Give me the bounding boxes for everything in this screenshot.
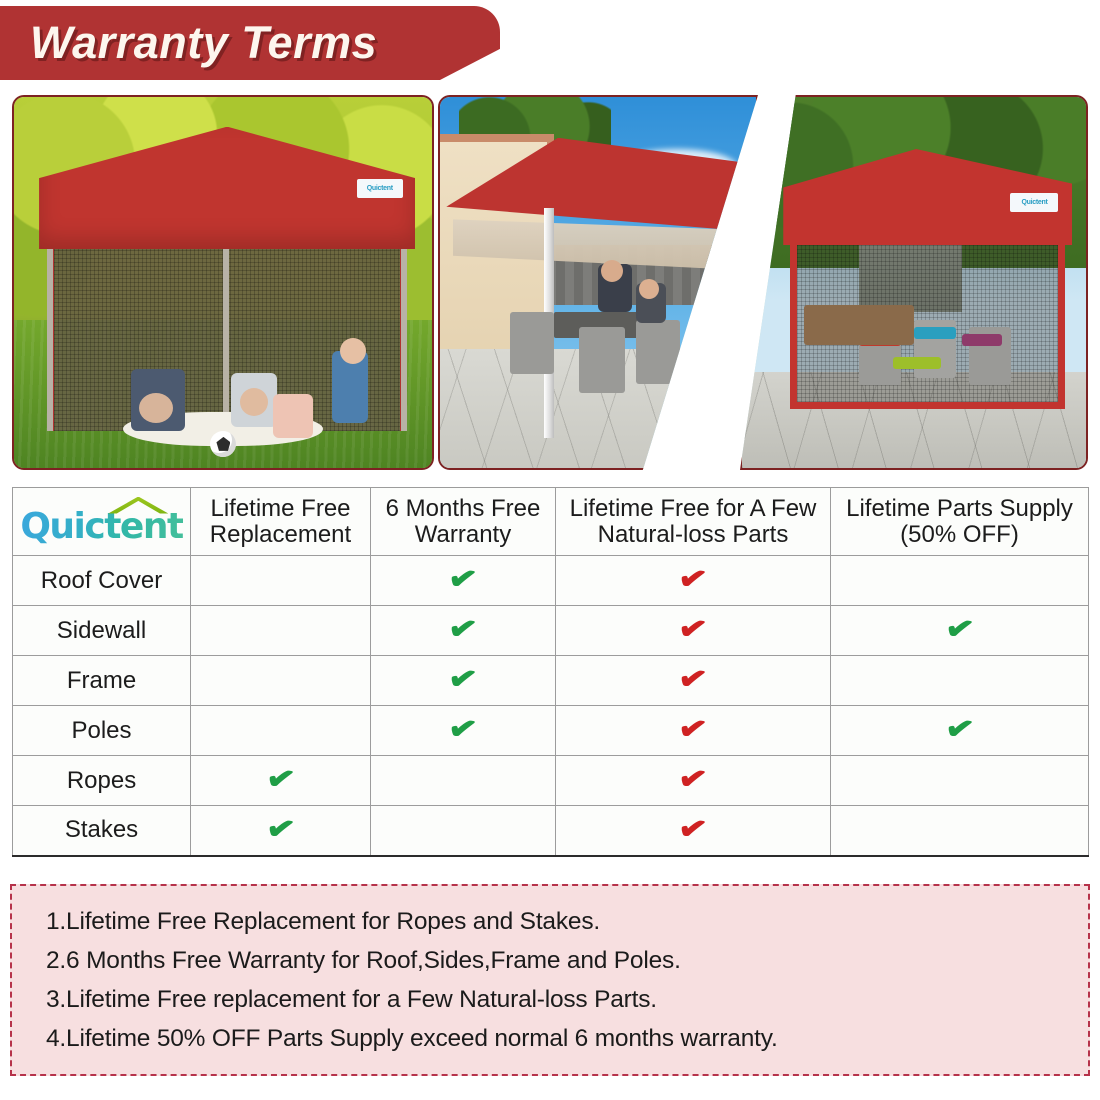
table-row: Sidewall✔✔✔ (13, 606, 1089, 656)
cell-check-red: ✔ (556, 706, 831, 756)
warranty-table: Quictent Lifetime Free Replacement 6 Mon… (12, 487, 1089, 857)
row-label-stakes: Stakes (13, 806, 191, 856)
note-line: 4.Lifetime 50% OFF Parts Supply exceed n… (46, 1025, 1054, 1053)
patio-chair (579, 327, 625, 393)
checkmark-green-icon: ✔ (447, 713, 480, 747)
row-label-sidewall: Sidewall (13, 606, 191, 656)
table-row: Ropes✔✔ (13, 756, 1089, 806)
checkmark-red-icon: ✔ (677, 663, 710, 697)
photo-red-canopy-with-mesh-sidewalls-on-patio: Quictent (740, 95, 1088, 470)
cell-check-red: ✔ (556, 606, 831, 656)
cell-check-red: ✔ (556, 756, 831, 806)
table-body: Roof Cover✔✔Sidewall✔✔✔Frame✔✔Poles✔✔✔Ro… (13, 556, 1089, 856)
canopy-post-left (47, 238, 53, 431)
canopy-post-center (223, 238, 229, 431)
checkmark-red-icon: ✔ (677, 613, 710, 647)
cell-empty (191, 656, 371, 706)
wooden-bench (804, 305, 914, 345)
cushion-purple (962, 334, 1002, 346)
checkmark-red-icon: ✔ (677, 563, 710, 597)
cell-empty (831, 656, 1089, 706)
row-label-roof-cover: Roof Cover (13, 556, 191, 606)
note-line: 2.6 Months Free Warranty for Roof,Sides,… (46, 947, 1054, 975)
cell-empty (191, 606, 371, 656)
checkmark-green-icon: ✔ (943, 713, 976, 747)
checkmark-red-icon: ✔ (677, 763, 710, 797)
checkmark-green-icon: ✔ (943, 613, 976, 647)
checkmark-red-icon: ✔ (677, 813, 710, 847)
patio-chair (636, 320, 680, 384)
patio-chair (510, 312, 554, 374)
cell-empty (831, 756, 1089, 806)
canopy-brand-badge: Quictent (357, 179, 403, 198)
cell-check-green: ✔ (831, 606, 1089, 656)
note-line: 3.Lifetime Free replacement for a Few Na… (46, 986, 1054, 1014)
note-line: 1.Lifetime Free Replacement for Ropes an… (46, 908, 1054, 936)
checkmark-green-icon: ✔ (447, 613, 480, 647)
canopy-brand-badge: Quictent (1010, 193, 1058, 212)
person-woman-head (240, 388, 268, 416)
cell-empty (191, 706, 371, 756)
photo-family-picnic-under-red-canopy: Quictent (12, 95, 434, 470)
photo-patio-dining-under-red-canopy (438, 95, 758, 470)
cell-check-green: ✔ (831, 706, 1089, 756)
cell-check-red: ✔ (556, 656, 831, 706)
quictent-logo: Quictent (20, 499, 182, 545)
checkmark-green-icon: ✔ (447, 663, 480, 697)
cell-empty (191, 556, 371, 606)
checkmark-red-icon: ✔ (677, 713, 710, 747)
table-row: Frame✔✔ (13, 656, 1089, 706)
warranty-table-container: Quictent Lifetime Free Replacement 6 Mon… (12, 487, 1088, 857)
product-photo-strip: Quictent Quictent (12, 95, 1088, 470)
table-row: Roof Cover✔✔ (13, 556, 1089, 606)
cushion-blue (914, 327, 956, 339)
cell-empty (371, 756, 556, 806)
cell-check-green: ✔ (371, 556, 556, 606)
column-header-6-months-free-warranty: 6 Months Free Warranty (371, 488, 556, 556)
cell-check-green: ✔ (371, 606, 556, 656)
cell-check-green: ✔ (371, 656, 556, 706)
checkmark-green-icon: ✔ (447, 563, 480, 597)
person-child-head (639, 279, 659, 299)
cell-check-green: ✔ (191, 806, 371, 856)
column-header-lifetime-parts-supply: Lifetime Parts Supply (50% OFF) (831, 488, 1089, 556)
person-boy-head (340, 338, 366, 364)
column-header-lifetime-free-natural-loss-parts: Lifetime Free for A Few Natural-loss Par… (556, 488, 831, 556)
table-header-row: Quictent Lifetime Free Replacement 6 Mon… (13, 488, 1089, 556)
row-label-poles: Poles (13, 706, 191, 756)
row-label-ropes: Ropes (13, 756, 191, 806)
cell-check-red: ✔ (556, 556, 831, 606)
table-header: Quictent Lifetime Free Replacement 6 Mon… (13, 488, 1089, 556)
page-title: Warranty Terms (30, 17, 377, 69)
cell-check-red: ✔ (556, 806, 831, 856)
table-row: Poles✔✔✔ (13, 706, 1089, 756)
cushion-green (893, 357, 941, 369)
column-header-lifetime-free-replacement: Lifetime Free Replacement (191, 488, 371, 556)
person-girl-sitting (273, 394, 313, 438)
cell-empty (831, 556, 1089, 606)
header-banner: Warranty Terms (0, 6, 500, 80)
checkmark-green-icon: ✔ (264, 813, 297, 847)
table-row: Stakes✔✔ (13, 806, 1089, 856)
cell-check-green: ✔ (371, 706, 556, 756)
row-label-frame: Frame (13, 656, 191, 706)
canopy-post-right (401, 238, 407, 431)
cell-empty (831, 806, 1089, 856)
warranty-notes-box: 1.Lifetime Free Replacement for Ropes an… (10, 884, 1090, 1076)
checkmark-green-icon: ✔ (264, 763, 297, 797)
brand-logo-cell: Quictent (13, 488, 191, 556)
cell-check-green: ✔ (191, 756, 371, 806)
cell-empty (371, 806, 556, 856)
